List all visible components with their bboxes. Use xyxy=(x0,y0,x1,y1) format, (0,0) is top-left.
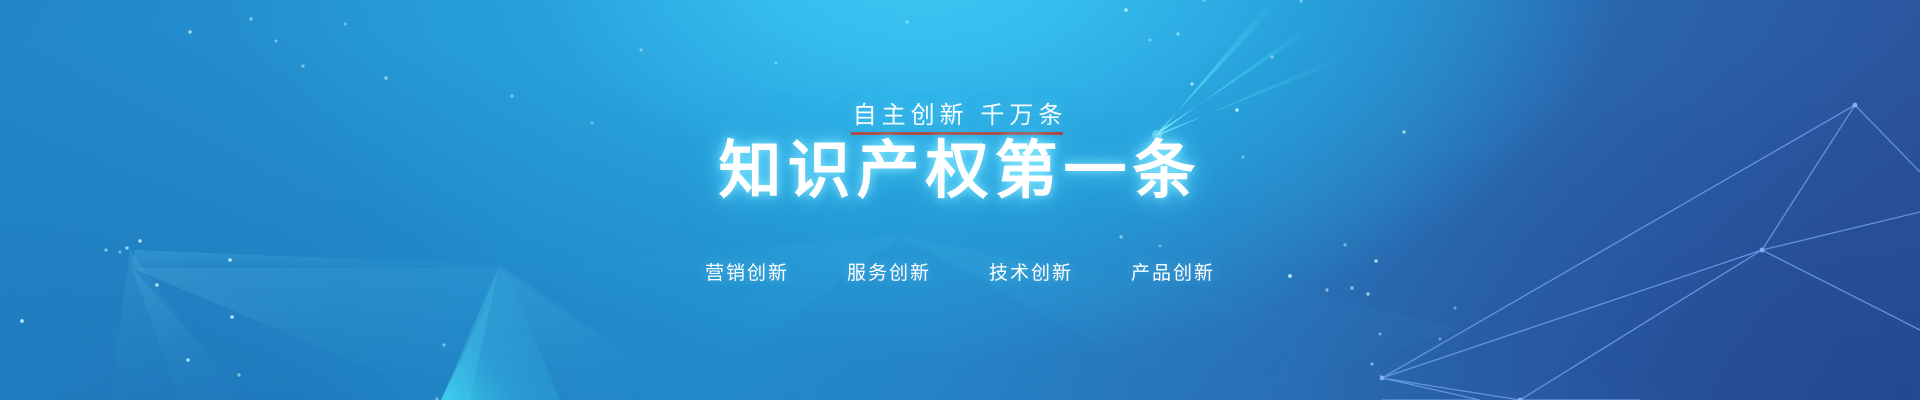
keyword-item-marketing[interactable]: 营销创新 xyxy=(705,258,789,285)
keyword-item-product[interactable]: 产品创新 xyxy=(1131,258,1215,285)
keyword-item-technology[interactable]: 技术创新 xyxy=(989,258,1073,285)
banner-subtitle: 自主创新 千万条 xyxy=(849,102,1072,135)
keyword-item-service[interactable]: 服务创新 xyxy=(847,258,931,285)
banner-title: 知识产权第一条 xyxy=(0,134,1920,208)
keyword-list: 营销创新 服务创新 技术创新 产品创新 xyxy=(0,258,1920,285)
banner-subtitle-text: 自主创新 千万条 xyxy=(853,102,1068,129)
hero-banner: 自主创新 千万条 知识产权第一条 营销创新 服务创新 技术创新 产品创新 xyxy=(0,0,1920,400)
banner-content: 自主创新 千万条 知识产权第一条 营销创新 服务创新 技术创新 产品创新 xyxy=(0,0,1920,400)
subtitle-wrap: 自主创新 千万条 xyxy=(0,102,1920,135)
